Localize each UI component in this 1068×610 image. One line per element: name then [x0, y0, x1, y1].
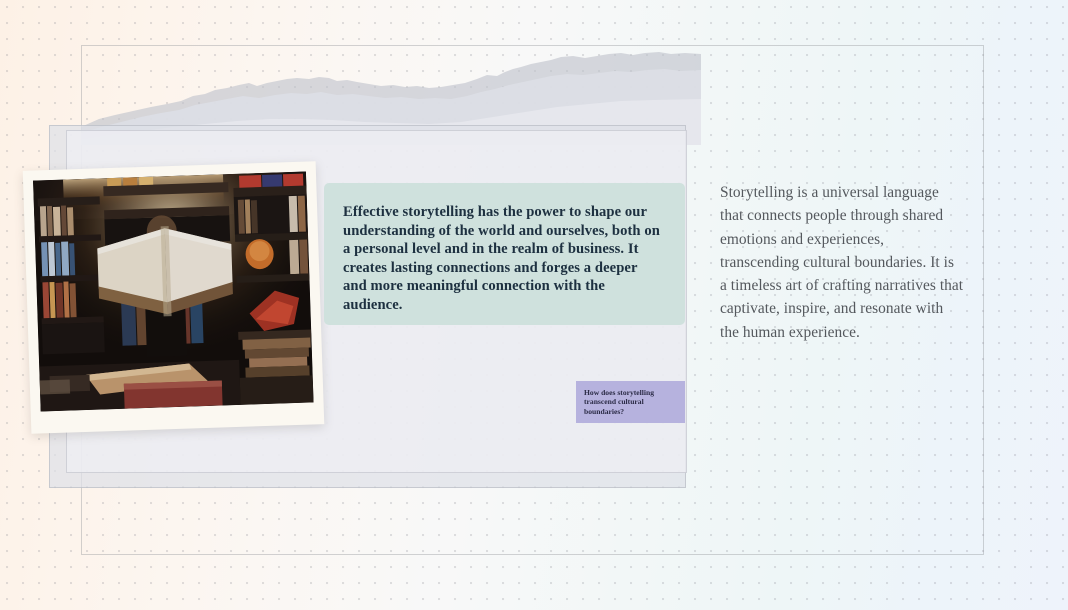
bookstore-photo: [33, 172, 314, 412]
slide-canvas: Effective storytelling has the power to …: [0, 0, 1068, 610]
photo-card[interactable]: [23, 161, 325, 434]
quote-text: Effective storytelling has the power to …: [343, 203, 663, 315]
body-paragraph-text: Storytelling is a universal language tha…: [720, 181, 964, 344]
question-note-text: How does storytelling transcend cultural…: [584, 388, 677, 416]
body-paragraph: Storytelling is a universal language tha…: [720, 181, 964, 344]
quote-callout-box[interactable]: Effective storytelling has the power to …: [324, 183, 685, 325]
question-note-box[interactable]: How does storytelling transcend cultural…: [576, 381, 685, 423]
